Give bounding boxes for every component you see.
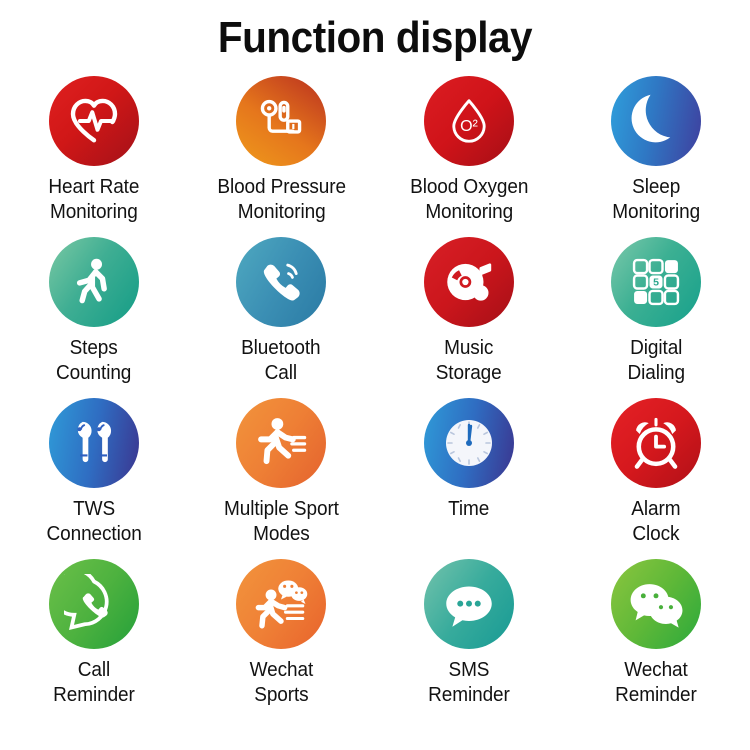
function-item-multiple-sport-modes[interactable]: Multiple Sport Modes	[188, 398, 376, 559]
heart-pulse-icon	[49, 76, 139, 166]
crescent-moon-icon	[611, 76, 701, 166]
function-item-sms-reminder[interactable]: SMS Reminder	[375, 559, 563, 720]
function-item-sleep-monitoring[interactable]: Sleep Monitoring	[563, 76, 750, 237]
function-item-label: Sleep Monitoring	[612, 175, 700, 225]
function-item-label: Call Reminder	[53, 658, 135, 708]
function-item-label: Time	[448, 497, 489, 522]
running-person-icon	[236, 398, 326, 488]
walking-person-icon	[49, 237, 139, 327]
function-item-heart-rate-monitoring[interactable]: Heart Rate Monitoring	[0, 76, 188, 237]
function-item-label: Blood Pressure Monitoring	[217, 175, 346, 225]
function-item-wechat-sports[interactable]: Wechat Sports	[188, 559, 376, 720]
blood-drop-o2-icon: O²	[424, 76, 514, 166]
ringing-phone-icon	[236, 237, 326, 327]
function-item-label: Steps Counting	[56, 336, 131, 386]
vinyl-music-note-icon	[424, 237, 514, 327]
page-title: Function display	[30, 0, 720, 76]
function-item-steps-counting[interactable]: Steps Counting	[0, 237, 188, 398]
function-item-call-reminder[interactable]: Call Reminder	[0, 559, 188, 720]
function-item-label: Multiple Sport Modes	[224, 497, 339, 547]
phone-bubble-icon	[49, 559, 139, 649]
alarm-clock-icon	[611, 398, 701, 488]
function-item-label: Bluetooth Call	[242, 336, 321, 386]
function-item-alarm-clock[interactable]: Alarm Clock	[563, 398, 750, 559]
function-item-music-storage[interactable]: Music Storage	[375, 237, 563, 398]
function-item-label: Blood Oxygen Monitoring	[410, 175, 528, 225]
function-item-blood-oxygen-monitoring[interactable]: O² Blood Oxygen Monitoring	[375, 76, 563, 237]
keypad-digit: 5	[653, 277, 659, 289]
function-item-label: Wechat Reminder	[615, 658, 697, 708]
function-item-digital-dialing[interactable]: 5 Digital Dialing	[563, 237, 750, 398]
function-item-label: Alarm Clock	[632, 497, 681, 547]
blood-pressure-monitor-icon	[236, 76, 326, 166]
earbuds-icon	[49, 398, 139, 488]
wechat-bubbles-icon	[611, 559, 701, 649]
function-item-label: SMS Reminder	[428, 658, 510, 708]
speech-bubble-dots-icon	[424, 559, 514, 649]
function-item-label: Wechat Sports	[249, 658, 313, 708]
runner-chat-bubbles-icon	[236, 559, 326, 649]
function-item-label: Music Storage	[436, 336, 502, 386]
function-item-tws-connection[interactable]: TWS Connection	[0, 398, 188, 559]
function-grid: Heart Rate Monitoring Blood Pressure Mon…	[0, 76, 750, 720]
function-item-wechat-reminder[interactable]: Wechat Reminder	[563, 559, 750, 720]
oxygen-label: O²	[460, 117, 478, 135]
function-item-bluetooth-call[interactable]: Bluetooth Call	[188, 237, 376, 398]
clock-face-icon	[424, 398, 514, 488]
function-item-time[interactable]: Time	[375, 398, 563, 559]
function-item-blood-pressure-monitoring[interactable]: Blood Pressure Monitoring	[188, 76, 376, 237]
keypad-icon: 5	[611, 237, 701, 327]
function-item-label: TWS Connection	[46, 497, 141, 547]
function-item-label: Digital Dialing	[628, 336, 685, 386]
function-item-label: Heart Rate Monitoring	[48, 175, 139, 225]
